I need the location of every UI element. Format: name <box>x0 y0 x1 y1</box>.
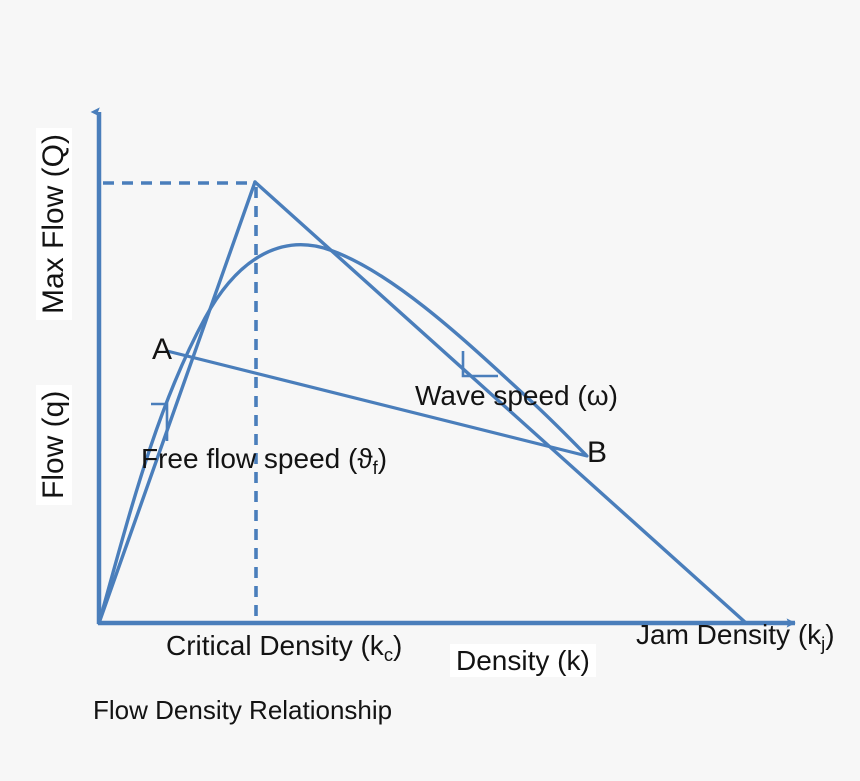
jam-density-label: Jam Density (kj) <box>636 620 835 649</box>
jam-density-text: Jam Density (k <box>636 619 821 650</box>
y-axis-lower-label: Flow (q) <box>36 385 72 505</box>
free-flow-branch-line <box>99 182 255 623</box>
free-flow-speed-subscript: f <box>373 457 378 478</box>
y-axis-upper-label: Max Flow (Q) <box>36 128 72 320</box>
figure-canvas: Max Flow (Q) Flow (q) A B Free flow spee… <box>0 0 860 781</box>
free-flow-speed-text: Free flow speed (ϑ <box>141 443 373 474</box>
critical-density-tail: ) <box>393 630 402 661</box>
x-axis-label: Density (k) <box>450 644 596 677</box>
point-a-label: A <box>152 334 172 366</box>
free-flow-speed-tail: ) <box>378 443 387 474</box>
free-flow-speed-label: Free flow speed (ϑf) <box>141 444 387 473</box>
jam-density-subscript: j <box>821 633 825 654</box>
critical-density-label: Critical Density (kc) <box>166 631 402 660</box>
point-b-label: B <box>587 437 607 469</box>
flow-density-curve <box>99 245 586 623</box>
critical-density-text: Critical Density (k <box>166 630 384 661</box>
wave-speed-label: Wave speed (ω) <box>415 381 618 410</box>
figure-caption: Flow Density Relationship <box>93 697 392 724</box>
critical-density-subscript: c <box>384 644 393 665</box>
jam-density-tail: ) <box>825 619 834 650</box>
